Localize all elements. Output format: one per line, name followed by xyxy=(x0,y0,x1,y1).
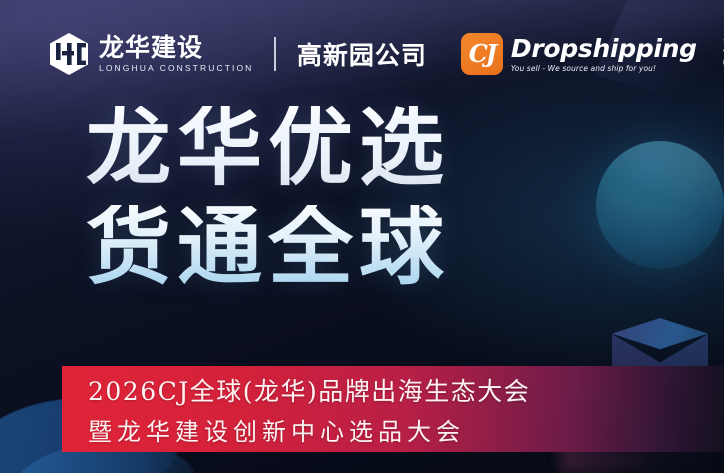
headline-line-1: 龙华优选 xyxy=(86,106,556,191)
headline-line-2: 货通全球 xyxy=(86,205,556,290)
event-banner: 2026CJ全球(龙华)品牌出海生态大会 暨龙华建设创新中心选品大会 xyxy=(62,366,724,452)
longhua-name-en: LONGHUA CONSTRUCTION xyxy=(99,63,253,73)
logo-cj-dropshipping: CJ Dropshipping You sell - We source and… xyxy=(461,33,697,75)
cj-script-icon: CJ xyxy=(461,33,503,75)
cj-badge-glyph: CJ xyxy=(469,39,495,68)
logo-longhua-construction: 龙华建设 LONGHUA CONSTRUCTION 高新园公司 xyxy=(48,32,427,76)
promo-banner: 龙华建设 LONGHUA CONSTRUCTION 高新园公司 CJ Drops… xyxy=(0,0,724,473)
blue-sphere-shape xyxy=(596,141,724,269)
cube-face-top xyxy=(612,318,708,352)
event-title-line-2: 暨龙华建设创新中心选品大会 xyxy=(88,412,465,447)
longhua-subsidiary-cn: 高新园公司 xyxy=(297,36,427,72)
cj-tagline: You sell - We source and ship for you! xyxy=(511,64,697,73)
logo-strip: 龙华建设 LONGHUA CONSTRUCTION 高新园公司 CJ Drops… xyxy=(0,24,724,84)
logo-divider xyxy=(274,37,276,71)
hexagon-lhj-monogram-icon xyxy=(48,32,90,76)
cj-brand-name: Dropshipping xyxy=(511,36,697,61)
longhua-name-cn: 龙华建设 xyxy=(99,35,253,61)
event-title-line-1: 2026CJ全球(龙华)品牌出海生态大会 xyxy=(88,372,530,408)
headline-block: 龙华优选 货通全球 xyxy=(86,106,556,290)
